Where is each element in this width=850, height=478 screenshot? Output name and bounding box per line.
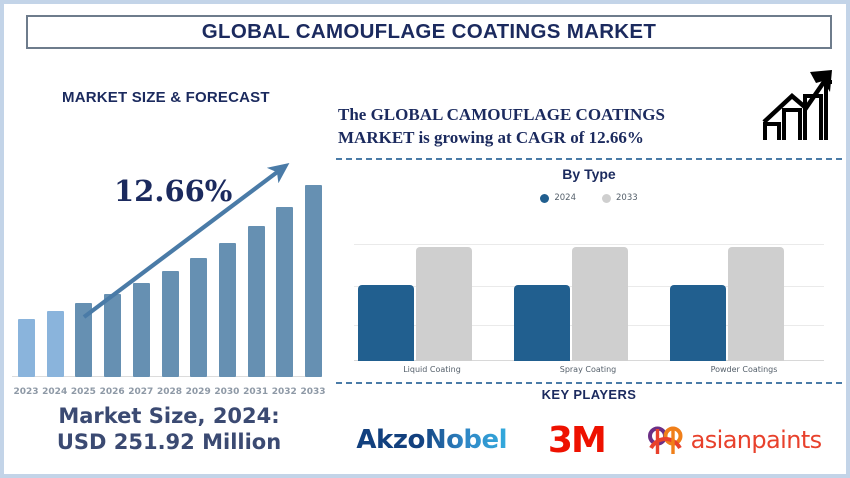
forecast-year-label: 2032 [269, 387, 299, 397]
forecast-bar [162, 271, 179, 377]
forecast-bar [190, 258, 207, 377]
legend-dot-2033 [602, 194, 611, 203]
market-size-forecast-heading: MARKET SIZE & FORECAST [62, 89, 270, 106]
forecast-bar [75, 303, 92, 377]
forecast-year-label: 2024 [40, 387, 70, 397]
by-type-title: By Type [336, 166, 842, 182]
forecast-bar [276, 207, 293, 377]
market-size-forecast-chart: 2023202420252026202720282029203020312032… [4, 154, 334, 399]
logo-asianpaints: asianpaints [646, 424, 822, 456]
key-players-logos: AkzoNobel 3M asianpaints [336, 416, 842, 464]
logo-akzonobel: AkzoNobel [356, 425, 507, 455]
forecast-bar [18, 319, 35, 377]
legend-label-2024: 2024 [554, 193, 576, 203]
market-size-label: Market Size, 2024: [4, 404, 334, 430]
page-title-box: GLOBAL CAMOUFLAGE COATINGS MARKET [26, 15, 832, 49]
by-type-legend: 2024 2033 [336, 193, 842, 203]
forecast-bar [47, 311, 64, 377]
legend-item-2024: 2024 [540, 193, 576, 203]
forecast-year-label: 2031 [241, 387, 271, 397]
by-type-bar [514, 285, 570, 361]
divider-top [336, 158, 842, 160]
forecast-bar [133, 283, 150, 377]
infographic-page: GLOBAL CAMOUFLAGE COATINGS MARKET MARKET… [0, 0, 850, 478]
legend-dot-2024 [540, 194, 549, 203]
forecast-year-label: 2023 [11, 387, 41, 397]
key-players-title: KEY PLAYERS [336, 387, 842, 402]
divider-bottom [336, 382, 842, 384]
forecast-year-label: 2033 [298, 387, 328, 397]
forecast-bar [219, 243, 236, 377]
by-type-bar [358, 285, 414, 361]
by-type-category-label: Powder Coatings [666, 365, 822, 374]
page-title: GLOBAL CAMOUFLAGE COATINGS MARKET [202, 20, 656, 44]
forecast-year-label: 2025 [68, 387, 98, 397]
by-type-bar [728, 247, 784, 361]
cagr-statement-line-2: MARKET is growing at CAGR of 12.66% [338, 127, 738, 150]
cagr-statement: The GLOBAL CAMOUFLAGE COATINGS MARKET is… [338, 104, 738, 149]
forecast-year-label: 2026 [97, 387, 127, 397]
by-type-category-label: Liquid Coating [354, 365, 510, 374]
by-type-bar [670, 285, 726, 361]
forecast-year-label: 2030 [212, 387, 242, 397]
market-size-value: Market Size, 2024: USD 251.92 Million [4, 404, 334, 455]
gridline [354, 244, 824, 245]
logo-3m: 3M [548, 420, 605, 461]
by-type-category-label: Spray Coating [510, 365, 666, 374]
growth-bar-chart-arrow-icon [762, 66, 834, 144]
cagr-statement-line-1: The GLOBAL CAMOUFLAGE COATINGS [338, 104, 738, 127]
legend-item-2033: 2033 [602, 193, 638, 203]
by-type-chart [354, 218, 824, 361]
forecast-bar [305, 185, 322, 377]
legend-label-2033: 2033 [616, 193, 638, 203]
asianpaints-wordmark: asianpaints [691, 426, 822, 454]
forecast-year-label: 2028 [155, 387, 185, 397]
by-type-bar [572, 247, 628, 361]
forecast-bar [104, 294, 121, 377]
forecast-year-label: 2027 [126, 387, 156, 397]
forecast-bar [248, 226, 265, 377]
forecast-year-label: 2029 [183, 387, 213, 397]
by-type-bar [416, 247, 472, 361]
asianpaints-mark-icon [646, 424, 686, 456]
market-size-amount: USD 251.92 Million [4, 430, 334, 456]
